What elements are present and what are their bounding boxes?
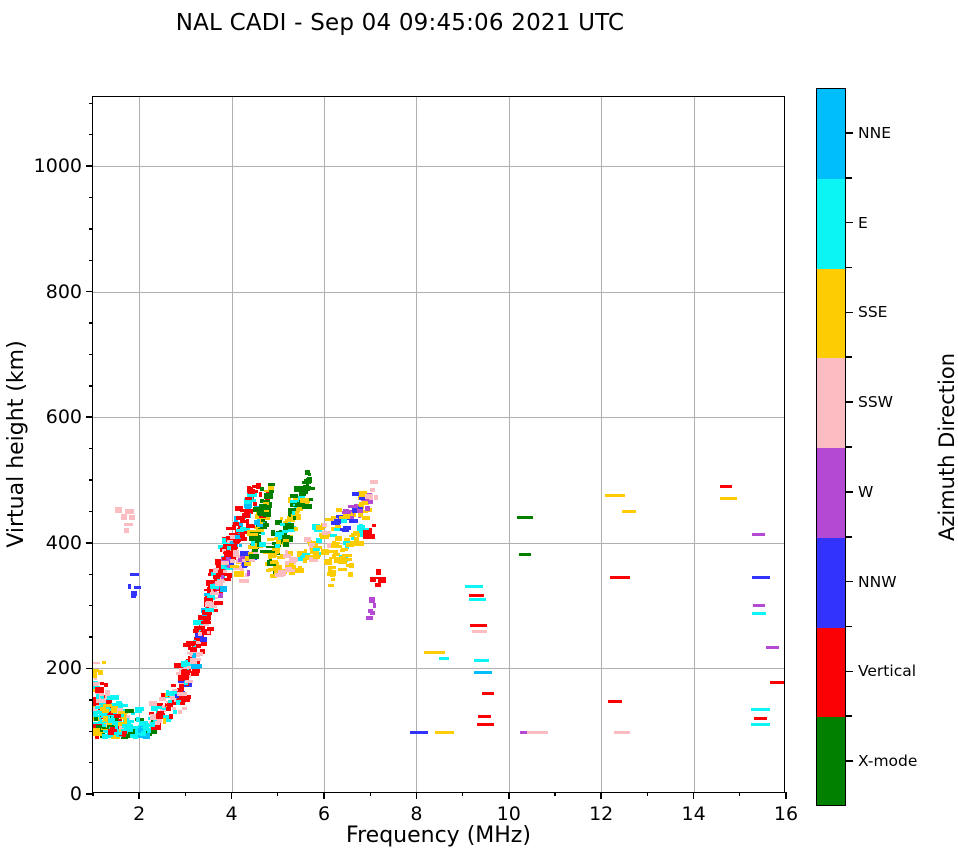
echo-point <box>720 497 737 500</box>
echo-point <box>124 523 133 527</box>
echo-point <box>369 496 373 500</box>
echo-point <box>239 544 243 547</box>
echo-point <box>375 583 381 587</box>
echo-point <box>129 720 134 723</box>
echo-point <box>226 527 235 530</box>
echo-point <box>305 470 309 476</box>
echo-point <box>102 661 106 664</box>
echo-point <box>474 659 489 662</box>
echo-point <box>424 651 445 654</box>
echo-point <box>321 549 328 554</box>
echo-point <box>753 604 765 607</box>
echo-point <box>614 731 630 734</box>
echo-point <box>134 586 141 589</box>
echo-point <box>285 523 294 529</box>
echo-point <box>227 573 232 577</box>
echo-point <box>93 732 102 737</box>
echo-point <box>182 669 186 675</box>
echo-point <box>188 646 191 650</box>
colorbar-label-e: E <box>858 214 868 232</box>
echo-point <box>247 486 251 491</box>
colorbar-tick <box>846 132 853 134</box>
y-axis-minor-tick <box>89 574 93 575</box>
echo-point <box>302 493 306 496</box>
echo-point <box>271 530 275 536</box>
echo-point <box>245 556 248 562</box>
y-axis-minor-tick <box>89 103 93 104</box>
echo-point <box>130 734 138 739</box>
x-axis-tick-label: 2 <box>133 803 145 825</box>
echo-point <box>233 540 241 543</box>
y-axis-minor-tick <box>89 511 93 512</box>
y-axis-minor-tick <box>89 197 93 198</box>
y-axis-minor-tick <box>89 228 93 229</box>
y-axis-tick-label: 800 <box>46 281 82 303</box>
echo-point <box>359 502 364 507</box>
echo-point <box>213 609 218 612</box>
echo-point <box>256 529 264 532</box>
echo-point <box>249 554 259 559</box>
echo-point <box>141 731 146 736</box>
echo-point <box>292 511 295 515</box>
echo-point <box>352 492 358 495</box>
echo-point <box>261 532 266 535</box>
echo-point <box>324 560 327 564</box>
y-axis-minor-tick <box>89 385 93 386</box>
colorbar <box>816 88 846 806</box>
echo-point <box>221 580 225 583</box>
echo-point <box>249 533 258 536</box>
x-axis-tick <box>231 792 233 799</box>
echo-point <box>96 725 102 728</box>
echo-point <box>260 487 264 491</box>
echo-point <box>346 564 354 567</box>
echo-point <box>285 519 293 522</box>
echo-point <box>171 684 176 687</box>
x-axis-tick-label: 6 <box>318 803 330 825</box>
page-title: NAL CADI - Sep 04 09:45:06 2021 UTC <box>0 10 800 36</box>
echo-point <box>93 672 97 677</box>
echo-point <box>345 558 351 561</box>
echo-point <box>357 529 361 532</box>
echo-point <box>93 682 100 685</box>
echo-point <box>246 519 250 524</box>
echo-point <box>98 670 103 675</box>
echo-point <box>166 707 172 711</box>
echo-point <box>754 717 767 720</box>
echo-point <box>335 536 342 542</box>
echo-point <box>322 531 328 535</box>
echo-point <box>266 569 271 572</box>
echo-point <box>185 680 192 683</box>
echo-point <box>305 487 315 491</box>
echo-point <box>124 718 127 724</box>
echo-point <box>439 657 449 660</box>
echo-point <box>259 542 266 548</box>
echo-point <box>373 603 376 609</box>
x-axis-tick <box>600 792 602 799</box>
echo-point <box>309 498 313 501</box>
echo-point <box>180 702 185 705</box>
echo-point <box>114 714 121 718</box>
y-axis-minor-tick <box>89 762 93 763</box>
echo-point <box>293 516 296 520</box>
echo-point <box>124 528 129 533</box>
x-axis-tick-label: 10 <box>497 803 521 825</box>
echo-point <box>369 597 375 603</box>
echo-point <box>752 533 765 536</box>
colorbar-title: Azimuth Direction <box>935 353 958 541</box>
echo-point <box>129 515 135 520</box>
colorbar-tick <box>846 401 853 403</box>
echo-point <box>370 577 375 582</box>
y-axis-tick <box>86 291 93 293</box>
echo-point <box>336 508 342 512</box>
echo-point <box>346 543 354 548</box>
echo-point <box>368 609 373 613</box>
echo-point <box>198 632 202 635</box>
echo-point <box>182 707 187 710</box>
echo-point <box>115 507 122 513</box>
echo-point <box>320 534 328 539</box>
echo-point <box>329 571 332 574</box>
echo-point <box>159 697 166 701</box>
echo-point <box>359 524 363 527</box>
echo-point <box>333 552 336 555</box>
colorbar-segment-e <box>817 179 845 269</box>
colorbar-tick <box>846 760 853 762</box>
echo-point <box>162 705 165 708</box>
colorbar-segment-ssw <box>817 358 845 448</box>
x-axis-minor-tick <box>92 792 93 796</box>
echo-point <box>363 533 371 538</box>
colorbar-tick <box>846 312 853 314</box>
echo-point <box>128 584 131 589</box>
echo-point <box>236 529 243 532</box>
echo-point <box>374 495 378 500</box>
echo-point <box>240 532 245 538</box>
echo-point <box>303 558 308 563</box>
echo-point <box>295 568 304 573</box>
echo-point <box>220 586 227 592</box>
echo-point <box>341 548 348 551</box>
x-axis-title: Frequency (MHz) <box>92 823 785 848</box>
echo-point <box>283 542 287 546</box>
echo-point <box>469 598 486 601</box>
colorbar-label-sse: SSE <box>858 303 887 321</box>
echo-point <box>608 700 622 703</box>
x-axis-tick <box>785 792 787 799</box>
y-axis-tick-label: 400 <box>46 532 82 554</box>
colorbar-segment-nnw <box>817 538 845 628</box>
echo-point <box>230 565 239 568</box>
echo-point <box>296 503 305 507</box>
x-axis-minor-tick <box>647 792 648 796</box>
echo-point <box>263 511 271 517</box>
x-axis-tick <box>693 792 695 799</box>
echo-point <box>477 723 494 726</box>
echo-point <box>268 483 275 486</box>
x-axis-tick-label: 16 <box>774 803 798 825</box>
echo-point <box>234 571 244 577</box>
echo-point <box>102 709 110 713</box>
echo-point <box>465 585 483 588</box>
echo-point <box>95 687 103 693</box>
echo-point <box>139 721 148 727</box>
x-axis-minor-tick <box>370 792 371 796</box>
echo-point <box>372 524 376 527</box>
x-axis-minor-tick <box>554 792 555 796</box>
colorbar-label-vertical: Vertical <box>858 662 916 680</box>
x-axis-minor-tick <box>739 792 740 796</box>
echo-point <box>169 714 173 719</box>
echo-point <box>766 646 779 649</box>
echo-point <box>125 709 134 712</box>
echo-point <box>365 506 370 511</box>
y-axis-minor-tick <box>89 322 93 323</box>
y-axis-minor-tick <box>89 260 93 261</box>
echo-point <box>114 732 122 735</box>
echo-point <box>366 616 373 620</box>
echo-point <box>140 707 144 711</box>
echo-point <box>358 541 363 545</box>
echo-point <box>198 652 203 657</box>
y-axis-tick <box>86 165 93 167</box>
y-axis-minor-tick <box>89 479 93 480</box>
x-axis-tick <box>138 792 140 799</box>
echo-point <box>362 516 370 520</box>
echo-point <box>272 560 279 564</box>
echo-point <box>194 626 200 630</box>
echo-point <box>192 669 200 673</box>
echo-point <box>752 612 766 615</box>
colorbar-tick <box>846 222 853 224</box>
echo-point <box>177 692 187 697</box>
colorbar-label-nne: NNE <box>858 124 891 142</box>
echo-point <box>751 723 771 726</box>
x-axis-tick-label: 12 <box>589 803 613 825</box>
x-axis-tick-label: 14 <box>682 803 706 825</box>
echo-point <box>269 490 274 494</box>
echo-point <box>342 554 345 560</box>
echo-point <box>517 516 533 519</box>
echo-point <box>275 544 280 549</box>
colorbar-boundary-tick <box>846 536 852 538</box>
x-axis-tick-label: 8 <box>410 803 422 825</box>
colorbar-segment-sse <box>817 269 845 359</box>
echo-point <box>439 731 455 734</box>
echo-point <box>121 514 127 520</box>
ionogram-plot-area: 02004006008001000246810121416 <box>92 96 785 793</box>
echo-point <box>349 519 358 524</box>
x-axis-minor-tick <box>277 792 278 796</box>
echo-point <box>280 517 283 520</box>
echo-point <box>370 480 378 484</box>
colorbar-label-x-mode: X-mode <box>858 752 917 770</box>
echo-point <box>470 624 487 627</box>
echo-point <box>242 513 250 518</box>
echo-point <box>163 718 166 724</box>
y-axis-minor-tick <box>89 134 93 135</box>
echo-point <box>264 510 269 513</box>
echo-point <box>259 492 262 498</box>
colorbar-segment-nne <box>817 89 845 179</box>
echo-point <box>245 497 252 500</box>
echo-point <box>201 621 211 624</box>
echo-point <box>189 652 193 656</box>
echo-point <box>469 594 484 597</box>
y-axis-tick <box>86 416 93 418</box>
y-axis-minor-tick <box>89 448 93 449</box>
echo-point <box>474 671 492 674</box>
echo-point <box>290 494 298 498</box>
echo-point <box>376 569 381 574</box>
y-axis-tick-label: 600 <box>46 406 82 428</box>
echo-point <box>349 535 356 538</box>
echo-point <box>751 708 771 711</box>
y-axis-minor-tick <box>89 605 93 606</box>
echo-point <box>206 598 214 601</box>
echo-point <box>190 658 197 664</box>
echo-point <box>132 573 135 576</box>
echo-point <box>349 574 353 577</box>
y-axis-tick-label: 1000 <box>34 155 82 177</box>
echo-point <box>294 527 297 531</box>
echo-point <box>221 575 224 580</box>
echo-point <box>605 494 625 497</box>
echo-point <box>302 481 308 484</box>
echo-point <box>247 570 251 576</box>
echo-point <box>233 550 239 554</box>
x-axis-tick-label: 4 <box>226 803 238 825</box>
echo-point <box>289 557 298 562</box>
echo-point <box>131 591 137 595</box>
echo-point <box>178 710 182 715</box>
echo-point <box>410 731 428 734</box>
echo-point <box>482 692 494 695</box>
echo-point <box>207 627 214 631</box>
echo-point <box>284 536 293 539</box>
echo-point <box>530 731 548 734</box>
echo-point <box>622 510 636 513</box>
y-axis-title: Virtual height (km) <box>4 340 29 547</box>
x-axis-tick <box>323 792 325 799</box>
echo-point <box>263 504 267 509</box>
echo-point <box>378 577 386 583</box>
echo-point <box>357 509 363 513</box>
echo-point <box>151 727 161 731</box>
echo-point <box>478 715 491 718</box>
echo-point <box>230 559 235 563</box>
echo-point <box>331 521 340 526</box>
echo-point <box>122 724 129 727</box>
colorbar-boundary-tick <box>846 356 852 358</box>
echo-point <box>519 553 530 556</box>
echo-point <box>336 557 341 562</box>
colorbar-tick <box>846 671 853 673</box>
colorbar-segment-vertical <box>817 628 845 718</box>
echo-point <box>342 529 350 532</box>
echo-point <box>322 523 327 527</box>
echo-point <box>357 532 360 536</box>
y-axis-tick <box>86 542 93 544</box>
echo-point <box>343 509 349 514</box>
echo-point <box>104 683 108 687</box>
echo-point <box>130 724 133 730</box>
echo-point <box>261 519 266 522</box>
echo-point <box>222 557 226 560</box>
colorbar-tick <box>846 491 853 493</box>
x-axis-tick <box>416 792 418 799</box>
y-axis-tick <box>86 668 93 670</box>
echo-point <box>97 699 105 702</box>
echo-point <box>610 576 630 579</box>
colorbar-segment-w <box>817 448 845 538</box>
colorbar-boundary-tick <box>846 715 852 717</box>
echo-point <box>275 573 285 576</box>
echo-point <box>720 485 732 488</box>
x-axis-tick <box>508 792 510 799</box>
echo-point <box>251 541 255 546</box>
echo-point <box>252 549 258 552</box>
y-axis-minor-tick <box>89 699 93 700</box>
echo-point <box>263 523 269 527</box>
y-axis-tick-label: 0 <box>70 783 82 805</box>
echo-point <box>110 695 119 700</box>
colorbar-boundary-tick <box>846 626 852 628</box>
colorbar-label-ssw: SSW <box>858 393 893 411</box>
colorbar-boundary-tick <box>846 177 852 179</box>
colorbar-boundary-tick <box>846 446 852 448</box>
echo-point <box>331 578 335 581</box>
echo-point <box>93 662 100 665</box>
echo-point <box>335 545 342 548</box>
echo-point <box>328 584 335 587</box>
echo-point <box>313 548 320 551</box>
echo-point <box>244 562 251 567</box>
echo-point <box>180 675 189 679</box>
echo-point <box>214 601 224 605</box>
colorbar-label-nnw: NNW <box>858 573 897 591</box>
y-axis-tick-label: 200 <box>46 657 82 679</box>
colorbar-tick <box>846 581 853 583</box>
echo-point <box>123 704 127 708</box>
echo-point <box>239 579 249 583</box>
echo-point <box>304 537 311 542</box>
echo-point <box>173 710 177 714</box>
echo-point <box>770 681 784 684</box>
echo-point <box>205 608 214 612</box>
echo-point <box>472 630 487 633</box>
echo-point <box>155 721 160 725</box>
echo-point <box>210 592 219 595</box>
echo-point <box>369 528 372 533</box>
echo-point <box>338 568 347 571</box>
x-axis-minor-tick <box>462 792 463 796</box>
echo-point <box>752 576 770 579</box>
echo-point <box>249 559 255 562</box>
echo-point <box>264 493 273 499</box>
echo-point <box>368 500 373 504</box>
scatter-points-layer <box>93 97 784 792</box>
y-axis-minor-tick <box>89 354 93 355</box>
x-axis-minor-tick <box>185 792 186 796</box>
colorbar-label-w: W <box>858 483 873 501</box>
y-axis-minor-tick <box>89 731 93 732</box>
colorbar-boundary-tick <box>846 267 852 269</box>
colorbar-segment-x-mode <box>817 717 845 806</box>
y-axis-minor-tick <box>89 636 93 637</box>
